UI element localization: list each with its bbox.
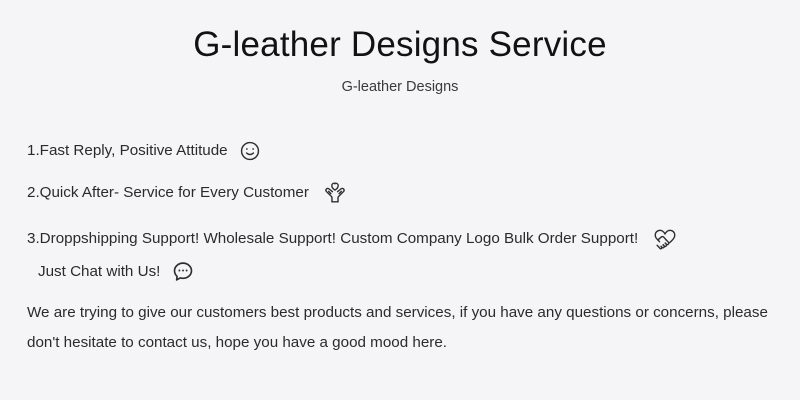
page-title: G-leather Designs Service bbox=[0, 26, 800, 65]
list-item: 1.Fast Reply, Positive Attitude bbox=[27, 140, 788, 162]
list-item: 3.Droppshipping Support! Wholesale Suppo… bbox=[27, 224, 788, 254]
service-list: 1.Fast Reply, Positive Attitude 2.Quick … bbox=[27, 140, 788, 284]
service-item-label: 1.Fast Reply, Positive Attitude bbox=[27, 143, 228, 159]
chat-bubble-icon bbox=[171, 260, 195, 284]
chat-prompt: Just Chat with Us! bbox=[27, 260, 788, 284]
chat-prompt-label: Just Chat with Us! bbox=[38, 264, 160, 280]
handshake-heart-icon bbox=[649, 224, 681, 254]
smiley-face-icon bbox=[239, 140, 261, 162]
list-item: 2.Quick After- Service for Every Custome… bbox=[27, 178, 788, 208]
hands-holding-heart-icon bbox=[320, 178, 350, 208]
closing-paragraph: We are trying to give our customers best… bbox=[27, 298, 789, 357]
service-item-label: 3.Droppshipping Support! Wholesale Suppo… bbox=[27, 231, 638, 247]
banner-header: G-leather Designs Service G-leather Desi… bbox=[0, 0, 800, 95]
page-subtitle: G-leather Designs bbox=[0, 80, 800, 96]
service-item-label: 2.Quick After- Service for Every Custome… bbox=[27, 185, 309, 201]
service-banner: G-leather Designs Service G-leather Desi… bbox=[0, 0, 800, 400]
